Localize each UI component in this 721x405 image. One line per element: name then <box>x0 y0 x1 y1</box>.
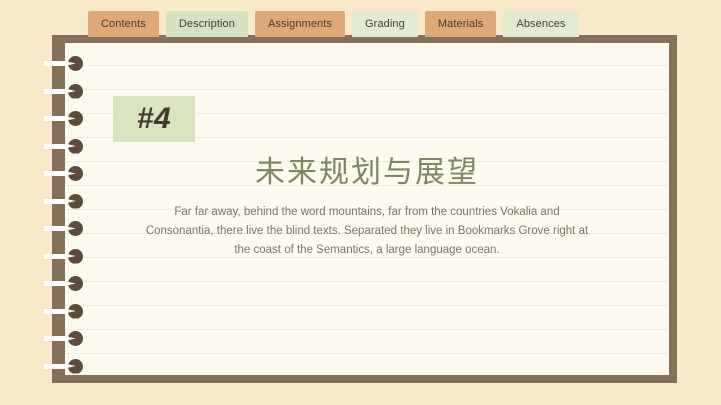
binding-notch <box>44 364 66 369</box>
tab-assignments[interactable]: Assignments <box>255 11 345 37</box>
binding-notch <box>44 171 66 176</box>
binding-ring <box>68 331 83 346</box>
tab-description[interactable]: Description <box>166 11 248 37</box>
binding-ring <box>68 249 83 264</box>
tab-materials[interactable]: Materials <box>425 11 497 37</box>
tab-contents[interactable]: Contents <box>88 11 159 37</box>
binding-ring <box>68 221 83 236</box>
binding-ring <box>68 194 83 209</box>
binding-notch <box>44 226 66 231</box>
binding-ring <box>68 304 83 319</box>
binding-ring <box>68 56 83 71</box>
slide-number-text: #4 <box>137 102 171 136</box>
spiral-binding-rings <box>68 35 94 383</box>
binding-notch <box>44 61 66 66</box>
binding-ring <box>68 276 83 291</box>
binding-notch <box>44 309 66 314</box>
binding-notch <box>44 336 66 341</box>
binding-ring <box>68 111 83 126</box>
binding-ring <box>68 84 83 99</box>
notebook-page: #4 未来规划与展望 Far far away, behind the word… <box>65 43 669 375</box>
binding-notch <box>44 89 66 94</box>
binding-notch-strip <box>44 35 66 383</box>
binding-ring <box>68 139 83 154</box>
tab-grading[interactable]: Grading <box>352 11 418 37</box>
binding-ring <box>68 359 83 374</box>
binding-notch <box>44 281 66 286</box>
binding-ring <box>68 166 83 181</box>
slide-title: 未来规划与展望 <box>65 147 669 191</box>
tab-bar: ContentsDescriptionAssignmentsGradingMat… <box>0 0 721 36</box>
binding-notch <box>44 254 66 259</box>
binding-notch <box>44 116 66 121</box>
binding-notch <box>44 144 66 149</box>
slide-body-text: Far far away, behind the word mountains,… <box>140 203 595 260</box>
notebook-frame: #4 未来规划与展望 Far far away, behind the word… <box>52 35 677 383</box>
slide-number-badge: #4 <box>113 96 195 142</box>
slide-content: #4 未来规划与展望 Far far away, behind the word… <box>65 43 669 375</box>
binding-notch <box>44 199 66 204</box>
tab-absences[interactable]: Absences <box>503 11 578 37</box>
